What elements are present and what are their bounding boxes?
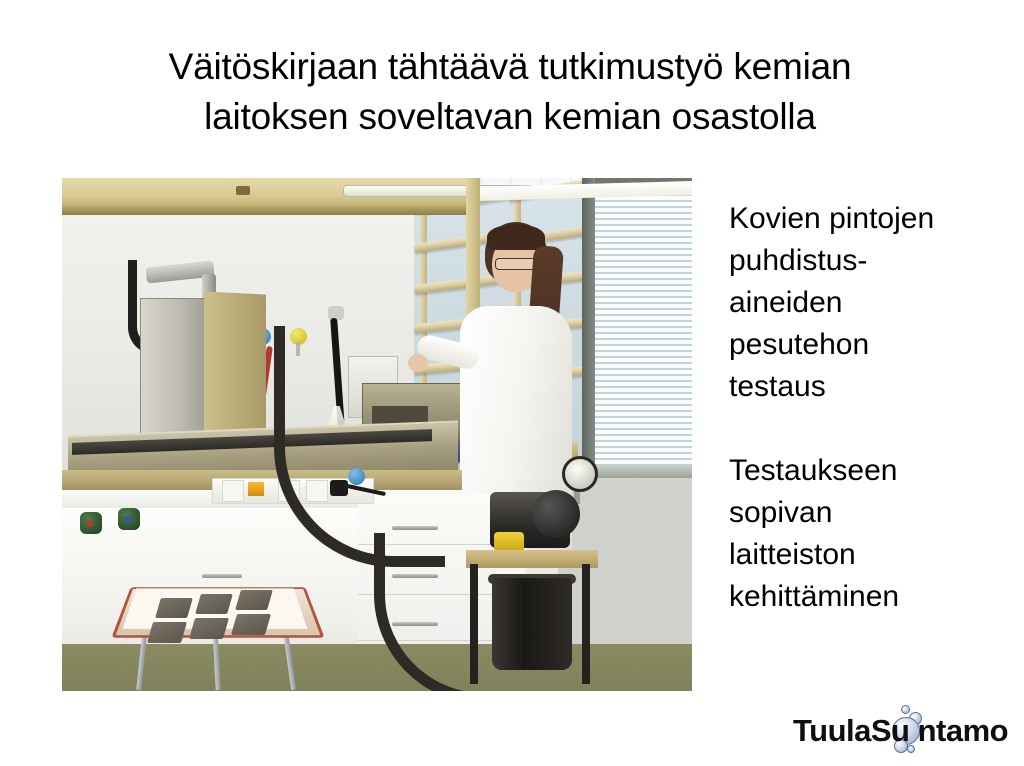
rig-metal-box [140, 298, 214, 452]
floor [62, 644, 692, 691]
hood-top-frame-shadow [62, 206, 477, 215]
drawer-handle-4[interactable] [202, 574, 242, 578]
text-block-1-line-2: puhdistus- [729, 240, 1009, 282]
text-block-1-line-3: aineiden [729, 282, 1009, 324]
test-plate-2 [195, 594, 233, 614]
text-block-1-line-5: testaus [729, 366, 1009, 408]
text-column: Kovien pintojen puhdistus- aineiden pesu… [729, 198, 1009, 618]
test-plate-4 [147, 622, 187, 643]
test-plate-5 [189, 618, 229, 639]
wall-switch-1[interactable] [222, 480, 244, 502]
indicator-lamp-amber [248, 482, 264, 496]
text-block-1-line-1: Kovien pintojen [729, 198, 1009, 240]
pump-stand-leg-right [582, 564, 590, 684]
window-blinds [594, 184, 692, 468]
test-plate-1 [155, 598, 193, 618]
brand-logo: TuulaSu ntamo [793, 705, 1008, 753]
title-line-1: Väitöskirjaan tähtäävä tutkimustyö kemia… [60, 42, 960, 92]
person-bangs [487, 224, 545, 250]
text-block-washing-test: Kovien pintojen puhdistus- aineiden pesu… [729, 198, 1009, 408]
text-block-2-line-3: laitteiston [729, 534, 1009, 576]
gas-valve-dot-2 [124, 516, 131, 523]
title-line-2: laitoksen soveltavan kemian osastolla [60, 92, 960, 142]
test-plate-3 [235, 590, 273, 610]
hood-knob [236, 186, 250, 195]
window-mullion [582, 178, 595, 478]
pressure-gauge [562, 456, 598, 492]
pump-motor [532, 490, 580, 538]
gas-valve-dot-1 [86, 520, 93, 527]
laboratory-photo [62, 178, 692, 691]
text-block-2-line-1: Testaukseen [729, 450, 1009, 492]
text-block-equipment-development: Testaukseen sopivan laitteiston kehittäm… [729, 450, 1009, 618]
window-sill [582, 466, 692, 478]
text-block-2-line-4: kehittäminen [729, 576, 1009, 618]
test-plate-6 [231, 614, 271, 635]
logo-text: TuulaSu ntamo [793, 713, 1008, 749]
page-title: Väitöskirjaan tähtäävä tutkimustyö kemia… [60, 42, 960, 142]
text-block-2-line-2: sopivan [729, 492, 1009, 534]
text-block-1-line-4: pesutehon [729, 324, 1009, 366]
person-glasses [495, 258, 537, 270]
